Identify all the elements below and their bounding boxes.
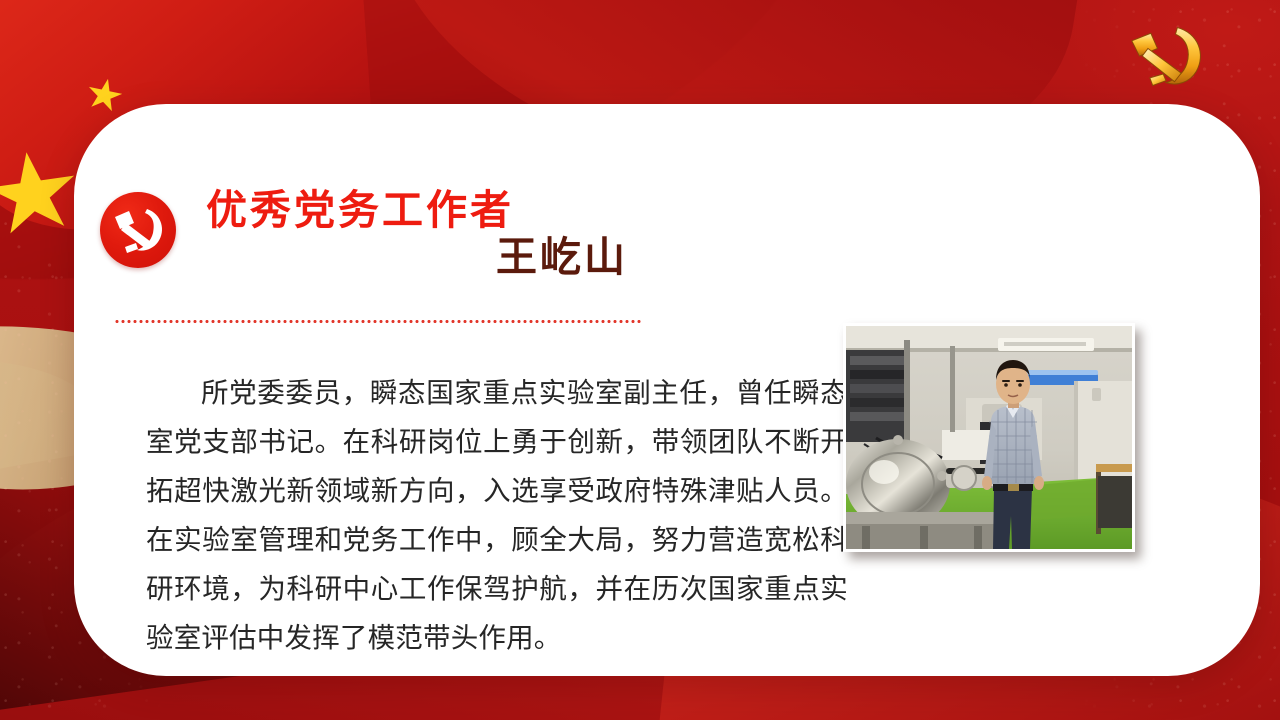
divider [114, 320, 642, 323]
slide-root: 优秀党务工作者 王屹山 所党委委员，瞬态国家重点实验室副主任，曾任瞬态室党支部书… [0, 0, 1280, 720]
page-title: 优秀党务工作者 [206, 188, 666, 232]
content-card: 优秀党务工作者 王屹山 所党委委员，瞬态国家重点实验室副主任，曾任瞬态室党支部书… [74, 104, 1260, 676]
bio-text: 所党委委员，瞬态国家重点实验室副主任，曾任瞬态室党支部书记。在科研岗位上勇于创新… [146, 368, 848, 662]
hammer-and-sickle-icon [100, 192, 176, 268]
portrait-photo [846, 326, 1132, 549]
title-block: 优秀党务工作者 王屹山 [206, 188, 666, 282]
portrait-photo-frame [843, 323, 1135, 552]
person-name: 王屹山 [206, 232, 666, 282]
gold-hammer-and-sickle-emblem-icon [1118, 20, 1214, 94]
